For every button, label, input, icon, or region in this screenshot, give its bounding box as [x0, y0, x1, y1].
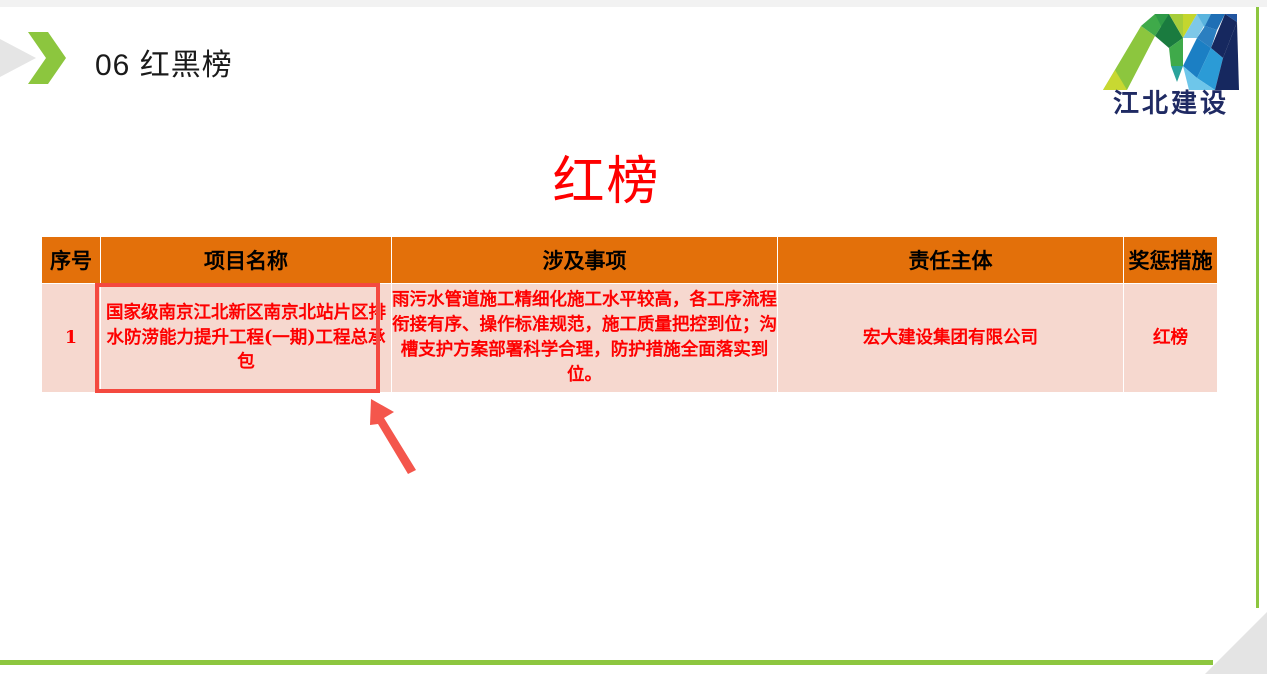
- column-header-matters: 涉及事项: [392, 237, 778, 284]
- cell-responsible: 宏大建设集团有限公司: [778, 284, 1124, 393]
- bottom-accent-line: [0, 660, 1213, 665]
- pointer-arrow-icon: [368, 394, 424, 474]
- column-header-measure: 奖惩措施: [1124, 237, 1218, 284]
- board-table: 序号 项目名称 涉及事项 责任主体 奖惩措施 1 国家级南京江北新区南京北站片区…: [41, 236, 1218, 393]
- cell-measure: 红榜: [1124, 284, 1218, 393]
- page-title: 06 红黑榜: [95, 40, 233, 84]
- cell-seq: 1: [42, 284, 101, 393]
- corner-fold-decoration: [1205, 612, 1267, 674]
- cell-project-name: 国家级南京江北新区南京北站片区排水防涝能力提升工程(一期)工程总承包: [101, 284, 392, 393]
- board-title: 红榜: [0, 139, 1213, 214]
- column-header-responsible: 责任主体: [778, 237, 1124, 284]
- top-strip: [0, 0, 1267, 7]
- logo-wordmark: 江北建设: [1097, 83, 1245, 120]
- slide-header: 06 红黑榜: [0, 12, 1267, 108]
- column-header-seq: 序号: [42, 237, 101, 284]
- company-logo: 江北建设: [1097, 8, 1245, 120]
- table-header-row: 序号 项目名称 涉及事项 责任主体 奖惩措施: [42, 237, 1218, 284]
- green-chevron-icon: [28, 32, 66, 84]
- board-table-wrapper: 序号 项目名称 涉及事项 责任主体 奖惩措施 1 国家级南京江北新区南京北站片区…: [41, 236, 1214, 393]
- cell-matters: 雨污水管道施工精细化施工水平较高，各工序流程衔接有序、操作标准规范，施工质量把控…: [392, 284, 778, 393]
- column-header-project-name: 项目名称: [101, 237, 392, 284]
- slide-canvas: 06 红黑榜 江北建设 红榜: [0, 0, 1267, 674]
- table-row: 1 国家级南京江北新区南京北站片区排水防涝能力提升工程(一期)工程总承包 雨污水…: [42, 284, 1218, 393]
